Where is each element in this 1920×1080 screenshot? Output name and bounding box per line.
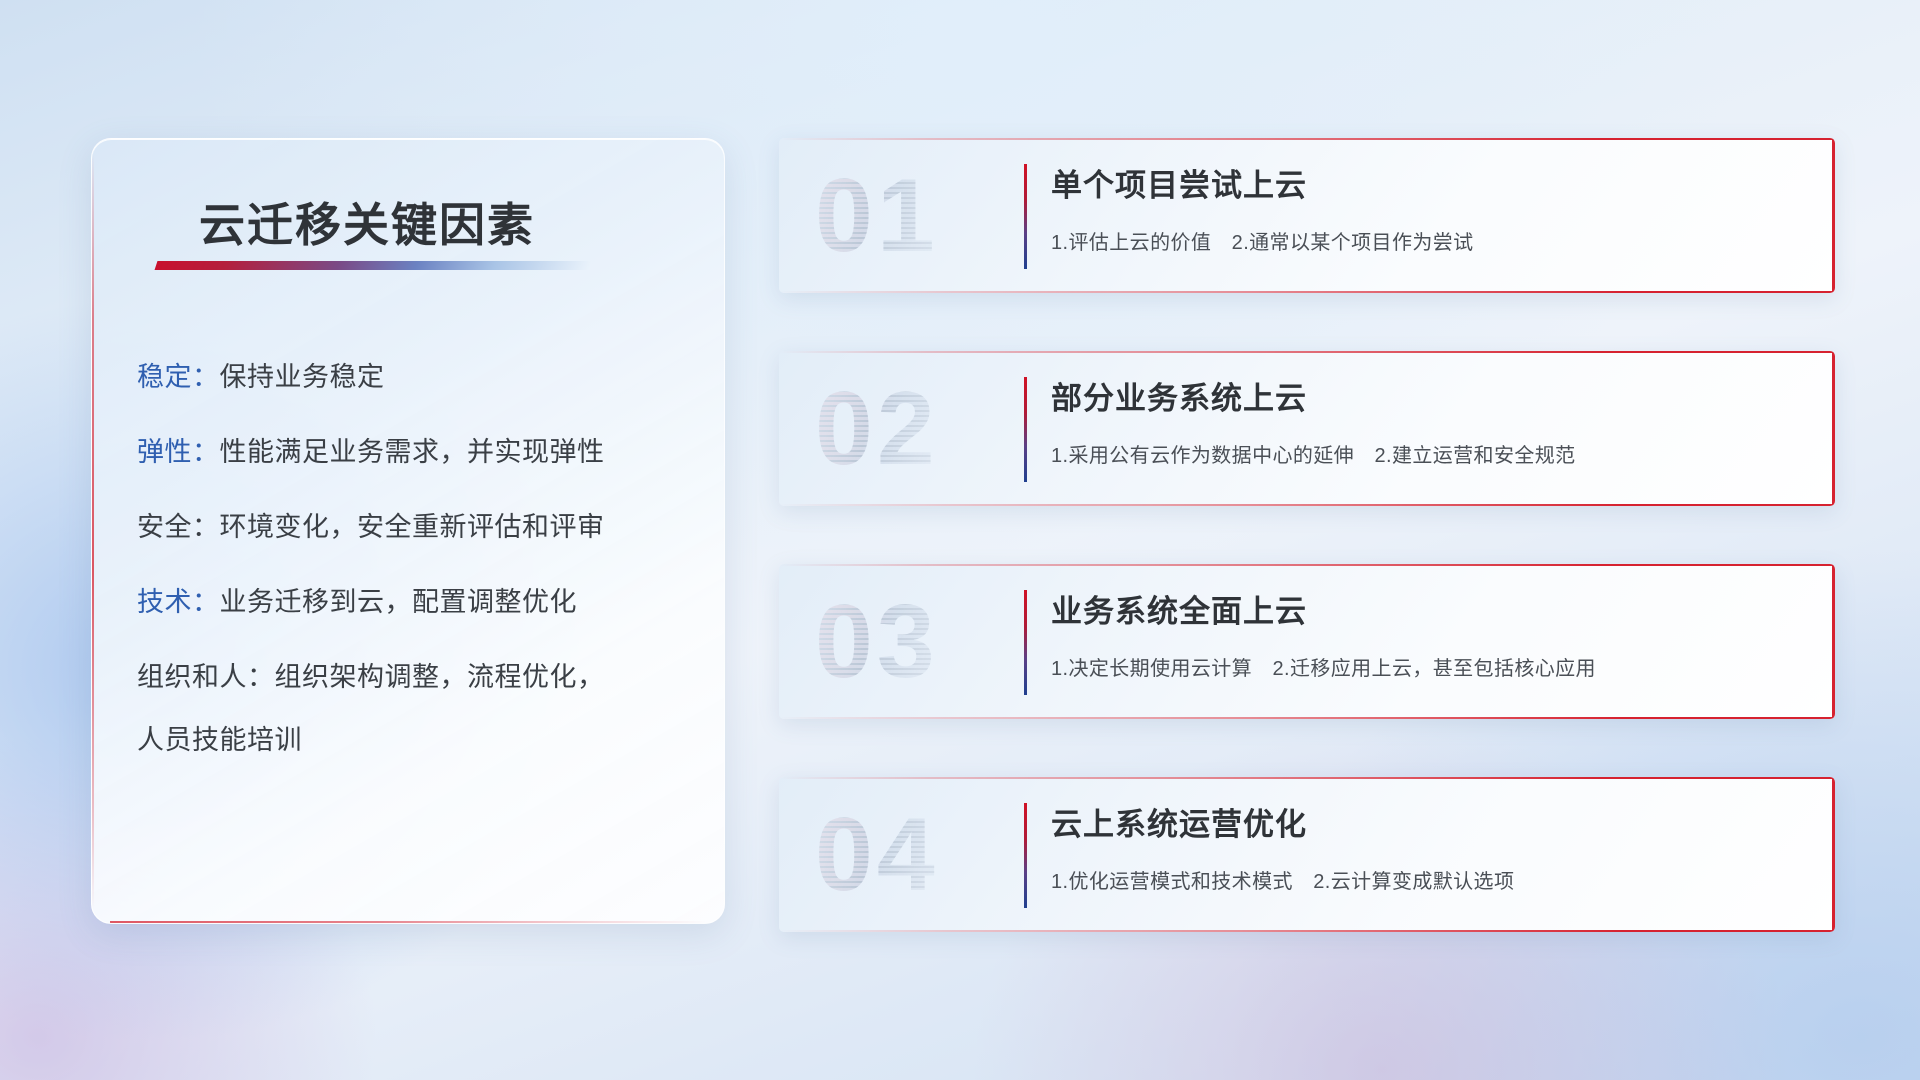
stage-card[interactable]: 01单个项目尝试上云1.评估上云的价值 2.通常以某个项目作为尝试 (779, 138, 1835, 293)
card-subtitle: 1.优化运营模式和技术模式 2.云计算变成默认选项 (1051, 865, 1514, 894)
card-accent-bar (1024, 590, 1027, 695)
card-accent-bar (1024, 164, 1027, 269)
key-factors-panel: 云迁移关键因素 稳定：保持业务稳定弹性：性能满足业务需求，并实现弹性安全：环境变… (91, 138, 725, 924)
card-step-number: 02 (815, 365, 1005, 493)
card-bottom-border (779, 930, 1835, 932)
factor-label: 技术： (137, 586, 220, 619)
page-title: 云迁移关键因素 (199, 189, 659, 255)
factor-item: 稳定：保持业务稳定 (137, 361, 694, 394)
card-top-border (779, 138, 1835, 140)
factor-value: 保持业务稳定 (220, 361, 385, 394)
card-subtitle: 1.决定长期使用云计算 2.迁移应用上云，甚至包括核心应用 (1051, 652, 1596, 681)
card-subtitle: 1.评估上云的价值 2.通常以某个项目作为尝试 (1051, 226, 1474, 255)
card-title: 部分业务系统上云 (1051, 373, 1307, 418)
factor-item: 组织和人：组织架构调整，流程优化，人员技能培训 (137, 661, 694, 757)
factor-value: 环境变化，安全重新评估和评审 (220, 511, 605, 544)
card-bottom-border (779, 717, 1835, 719)
card-step-number: 04 (815, 791, 1005, 919)
stage-card[interactable]: 04云上系统运营优化1.优化运营模式和技术模式 2.云计算变成默认选项 (779, 777, 1835, 932)
panel-left-accent-edge (92, 153, 94, 909)
card-bottom-border (779, 291, 1835, 293)
slide-canvas: 云迁移关键因素 稳定：保持业务稳定弹性：性能满足业务需求，并实现弹性安全：环境变… (0, 0, 1920, 1080)
card-title: 业务系统全面上云 (1051, 586, 1307, 631)
card-bottom-border (779, 504, 1835, 506)
stage-card-list: 01单个项目尝试上云1.评估上云的价值 2.通常以某个项目作为尝试02部分业务系… (779, 138, 1835, 990)
stage-card[interactable]: 03业务系统全面上云1.决定长期使用云计算 2.迁移应用上云，甚至包括核心应用 (779, 564, 1835, 719)
factor-label: 安全： (137, 511, 220, 544)
factor-value: 业务迁移到云，配置调整优化 (220, 586, 578, 619)
card-top-border (779, 777, 1835, 779)
factor-list: 稳定：保持业务稳定弹性：性能满足业务需求，并实现弹性安全：环境变化，安全重新评估… (137, 361, 694, 799)
card-subtitle: 1.采用公有云作为数据中心的延伸 2.建立运营和安全规范 (1051, 439, 1576, 468)
factor-item: 弹性：性能满足业务需求，并实现弹性 (137, 436, 694, 469)
factor-label: 组织和人： (137, 662, 275, 692)
card-right-border (1832, 564, 1835, 719)
card-right-border (1832, 777, 1835, 932)
factor-value-line2: 人员技能培训 (137, 724, 694, 757)
factor-item: 技术：业务迁移到云，配置调整优化 (137, 586, 694, 619)
card-step-number: 03 (815, 578, 1005, 706)
factor-item: 安全：环境变化，安全重新评估和评审 (137, 511, 694, 544)
card-top-border (779, 564, 1835, 566)
factor-value: 性能满足业务需求，并实现弹性 (220, 436, 605, 469)
factor-value: 组织架构调整，流程优化， (275, 662, 605, 692)
title-underline-rule (155, 261, 592, 270)
factor-label: 稳定： (137, 361, 220, 394)
stage-card[interactable]: 02部分业务系统上云1.采用公有云作为数据中心的延伸 2.建立运营和安全规范 (779, 351, 1835, 506)
card-right-border (1832, 138, 1835, 293)
card-accent-bar (1024, 803, 1027, 908)
card-top-border (779, 351, 1835, 353)
factor-label: 弹性： (137, 436, 220, 469)
panel-bottom-accent-edge (110, 921, 706, 923)
card-step-number: 01 (815, 152, 1005, 280)
card-right-border (1832, 351, 1835, 506)
card-title: 云上系统运营优化 (1051, 799, 1307, 844)
card-title: 单个项目尝试上云 (1051, 160, 1307, 205)
card-accent-bar (1024, 377, 1027, 482)
